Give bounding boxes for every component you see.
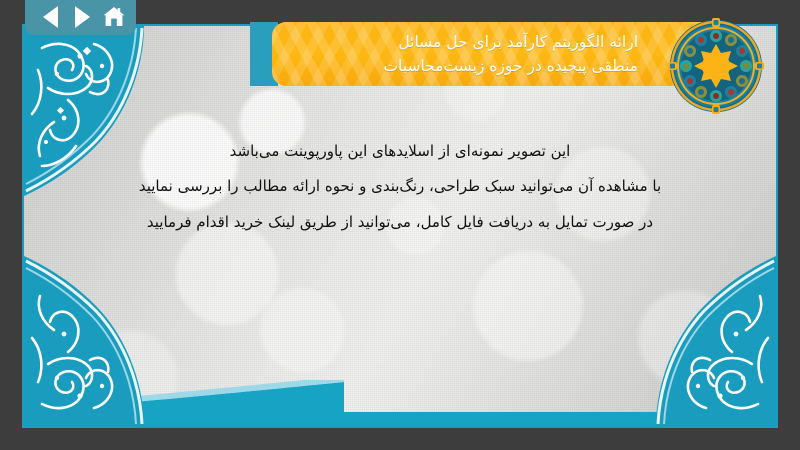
body-line-2: با مشاهده آن می‌توانید سبک طراحی، رنگ‌بن… <box>54 169 746 204</box>
title-banner: ارائه الگوریتم کارآمد برای حل مسائل منطق… <box>272 22 704 86</box>
slide-body-text: این تصویر نمونه‌ای از اسلایدهای این پاور… <box>54 134 746 240</box>
slide-canvas: این تصویر نمونه‌ای از اسلایدهای این پاور… <box>0 0 800 450</box>
body-line-3: در صورت تمایل به دریافت فایل کامل، می‌تو… <box>54 205 746 240</box>
triangle-left-icon <box>43 6 58 28</box>
triangle-right-icon <box>75 6 90 28</box>
arabesque-corner-bottom-left <box>24 256 144 426</box>
persian-medallion <box>668 18 764 114</box>
home-icon <box>102 6 126 28</box>
next-slide-button[interactable] <box>69 5 95 29</box>
navigation-panel <box>25 0 136 35</box>
page-title-line-1: ارائه الگوریتم کارآمد برای حل مسائل <box>398 30 638 54</box>
previous-slide-button[interactable] <box>37 5 63 29</box>
arabesque-corner-icon <box>656 256 776 426</box>
persian-medallion-icon <box>668 18 764 114</box>
body-line-1: این تصویر نمونه‌ای از اسلایدهای این پاور… <box>54 134 746 169</box>
arabesque-corner-bottom-right <box>656 256 776 426</box>
arabesque-corner-icon <box>24 256 144 426</box>
page-title-line-2: منطقی پیچیده در حوزه زیست‌محاسبات <box>383 54 638 78</box>
home-button[interactable] <box>101 5 127 29</box>
